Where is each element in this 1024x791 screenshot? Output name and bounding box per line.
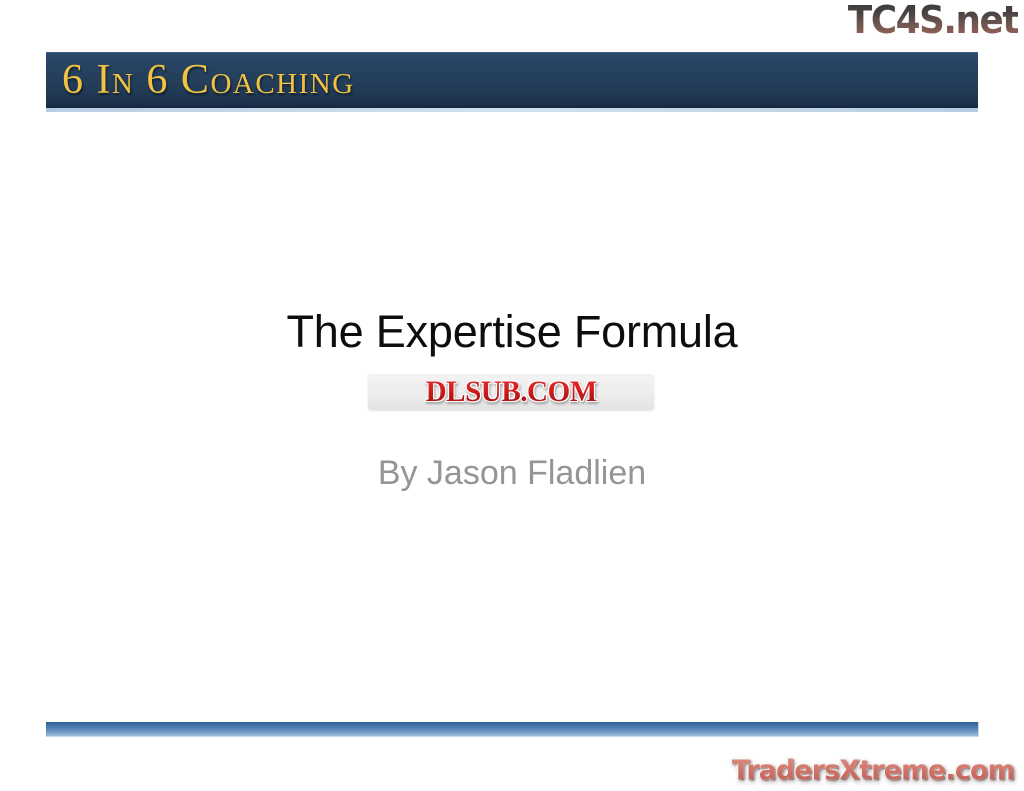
slide-subtitle: By Jason Fladlien (0, 452, 1024, 494)
subtitle-block: By Jason Fladlien (0, 452, 1024, 494)
slide-title: The Expertise Formula (0, 305, 1024, 359)
footer-bar (46, 722, 979, 737)
header-banner-title: 6 In 6 Coaching (62, 58, 355, 102)
watermark-tradersxtreme: TradersXtreme.com (732, 756, 1015, 786)
watermark-dlsub: DLSUB.COM (368, 374, 654, 410)
slide-canvas: TC4S.net 6 In 6 Coaching The Expertise F… (0, 0, 1024, 791)
watermark-dlsub-text: DLSUB.COM (425, 377, 596, 407)
watermark-tc4s: TC4S.net (848, 0, 1018, 40)
title-block: The Expertise Formula (0, 305, 1024, 359)
header-banner: 6 In 6 Coaching (46, 52, 978, 112)
